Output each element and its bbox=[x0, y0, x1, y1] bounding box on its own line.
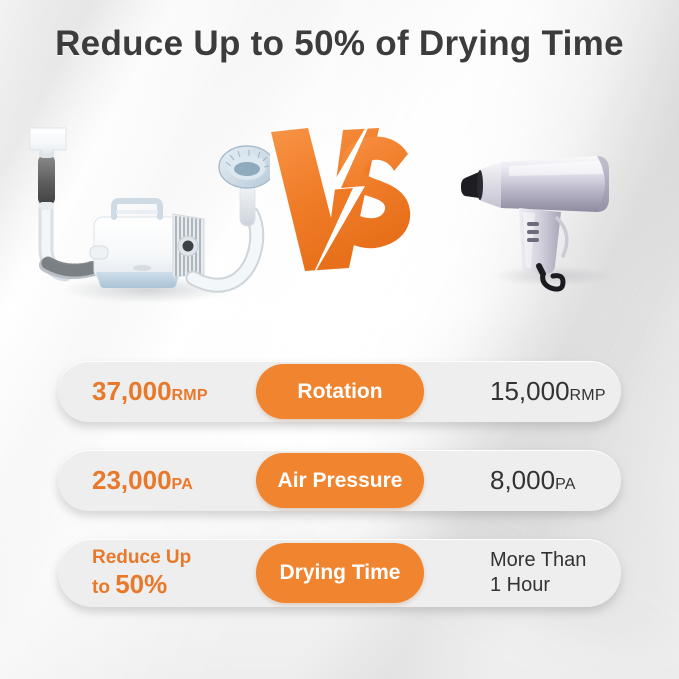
page-title: Reduce Up to 50% of Drying Time bbox=[0, 24, 679, 64]
vs-logo bbox=[265, 108, 415, 283]
row-right-line2: 1 Hour bbox=[490, 573, 621, 598]
table-row: Reduce Up to 50% Drying Time More Than 1… bbox=[58, 539, 621, 607]
row-left-value: 23,000PA bbox=[58, 467, 256, 494]
row-label: Air Pressure bbox=[278, 469, 403, 493]
row-left-line2: to 50% bbox=[92, 569, 256, 601]
hero-product-comparison bbox=[0, 100, 679, 320]
row-label-pill[interactable]: Air Pressure bbox=[256, 453, 424, 508]
row-left-value: 37,000RMP bbox=[58, 378, 256, 405]
row-left-unit: RMP bbox=[172, 387, 208, 404]
table-row: 23,000PA Air Pressure 8,000PA bbox=[58, 450, 621, 511]
row-right-unit: RMP bbox=[570, 387, 606, 404]
row-label: Drying Time bbox=[280, 561, 401, 585]
row-label-pill[interactable]: Rotation bbox=[256, 364, 424, 419]
row-left-line1: Reduce Up bbox=[92, 546, 256, 569]
row-right-number: 15,000 bbox=[490, 376, 570, 406]
row-right-value: 8,000PA bbox=[440, 467, 621, 494]
row-label-pill[interactable]: Drying Time bbox=[256, 543, 424, 603]
row-right-number: 8,000 bbox=[490, 465, 555, 495]
row-left-value: Reduce Up to 50% bbox=[58, 546, 256, 601]
row-right-unit: PA bbox=[555, 476, 576, 493]
comparison-infographic: Reduce Up to 50% of Drying Time bbox=[0, 0, 679, 679]
row-right-value: 15,000RMP bbox=[440, 378, 621, 405]
hair-dryer-image bbox=[457, 126, 637, 296]
pet-dryer-image bbox=[18, 122, 270, 312]
row-right-value: More Than 1 Hour bbox=[440, 548, 621, 598]
row-left-unit: PA bbox=[172, 476, 193, 493]
comparison-table: 37,000RMP Rotation 15,000RMP 23,000PA Ai… bbox=[58, 361, 621, 607]
row-left-line2-prefix: to bbox=[92, 577, 115, 598]
row-left-line2-highlight: 50% bbox=[115, 569, 167, 599]
table-row: 37,000RMP Rotation 15,000RMP bbox=[58, 361, 621, 422]
row-left-number: 23,000 bbox=[92, 465, 172, 495]
row-label: Rotation bbox=[297, 380, 382, 404]
row-left-number: 37,000 bbox=[92, 376, 172, 406]
row-right-line1: More Than bbox=[490, 548, 621, 573]
